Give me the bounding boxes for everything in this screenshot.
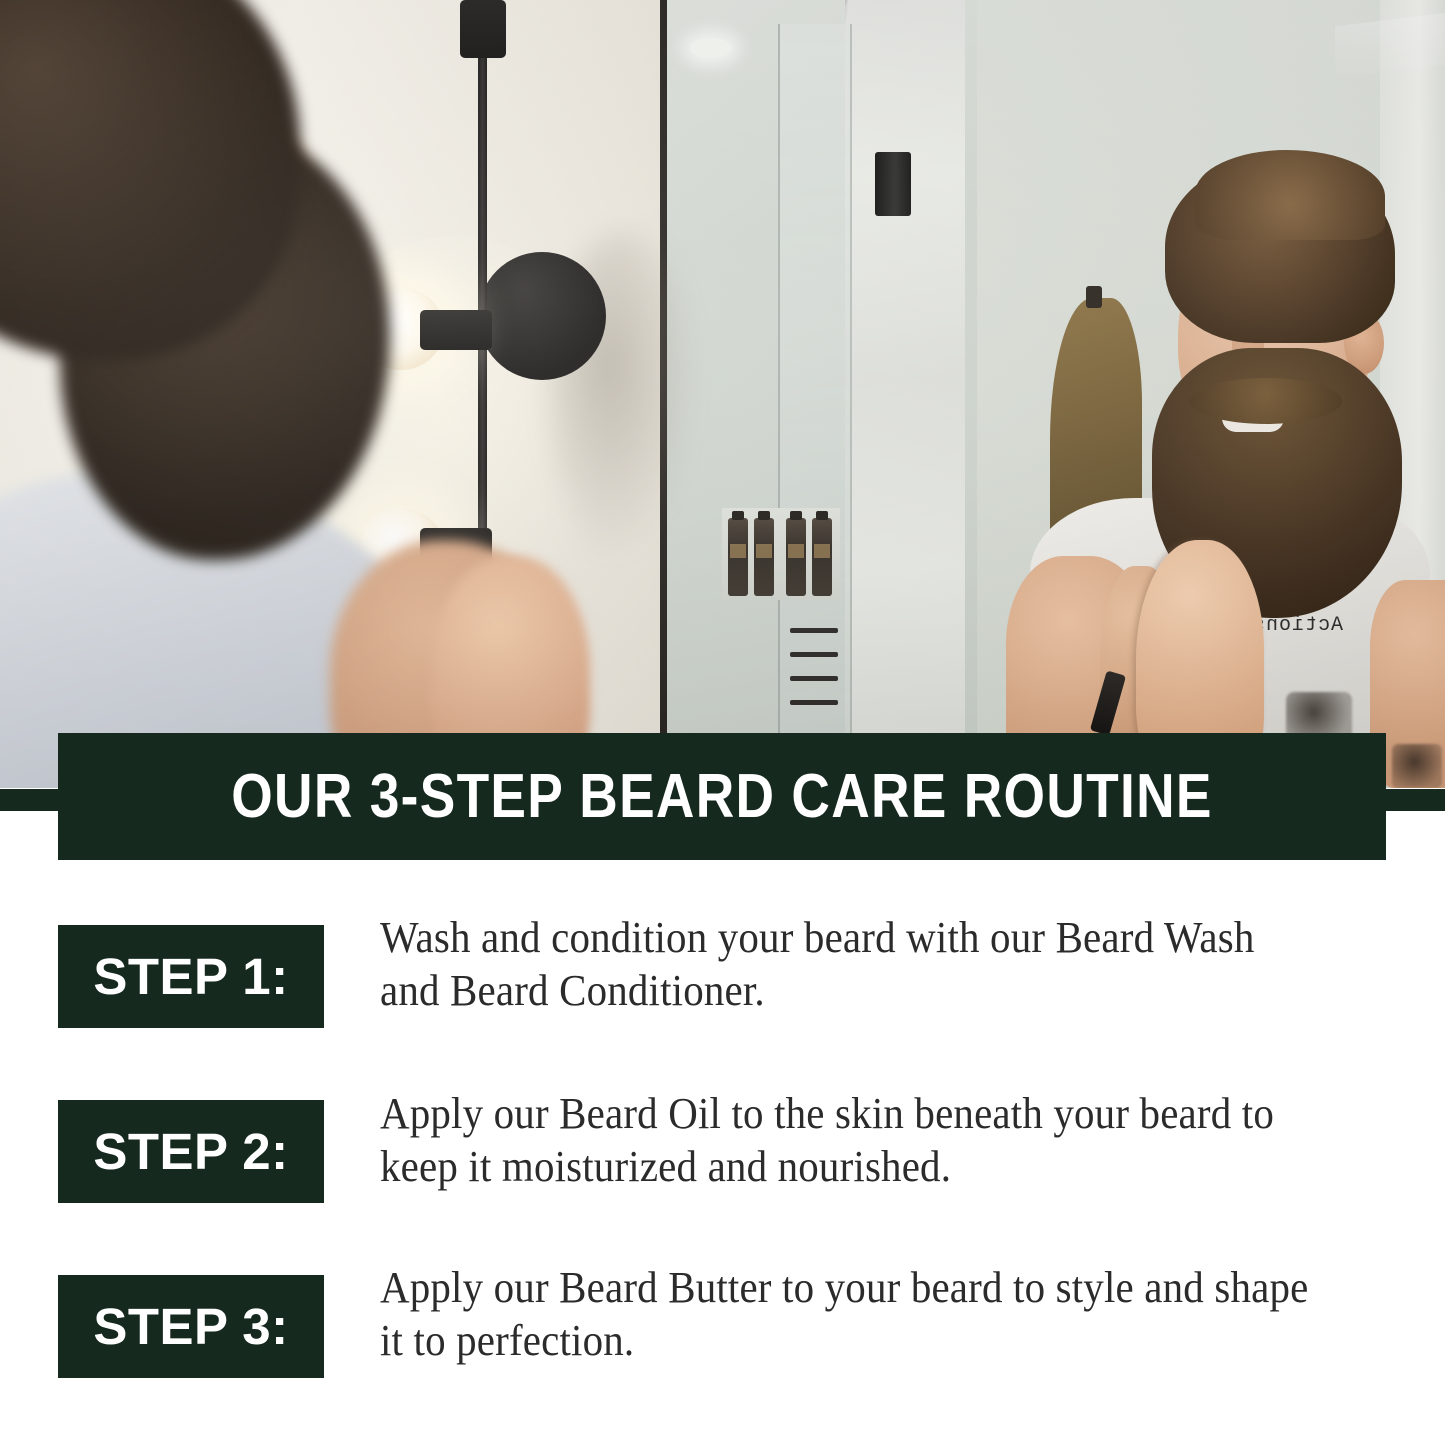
shower-niche <box>722 508 840 600</box>
list-item: STEP 1: Wash and condition your beard wi… <box>0 900 1445 1076</box>
bulb-socket-icon <box>420 310 492 350</box>
product-bottle <box>786 518 806 596</box>
reflected-man-moustache <box>1190 378 1342 424</box>
shower-door-hinge-icon <box>875 152 911 216</box>
step-3-text: Apply our Beard Butter to your beard to … <box>380 1262 1319 1368</box>
product-bottle <box>728 518 748 596</box>
page-title: OUR 3-STEP BEARD CARE ROUTINE <box>151 733 1293 860</box>
step-3-badge: STEP 3: <box>58 1275 324 1378</box>
step-1-badge: STEP 1: <box>58 925 324 1028</box>
sconce-backplate <box>478 252 606 380</box>
reflected-man-hair-top <box>1195 150 1385 240</box>
list-item: STEP 3: Apply our Beard Butter to your b… <box>0 1254 1445 1430</box>
infographic-canvas: Actions OUR 3-STEP BEARD CARE ROUTINE ST… <box>0 0 1445 1445</box>
shower-shelf-bracket <box>790 628 838 706</box>
step-2-text: Apply our Beard Oil to the skin beneath … <box>380 1088 1319 1194</box>
hero-photo: Actions <box>0 0 1445 788</box>
product-bottle <box>754 518 774 596</box>
list-item: STEP 2: Apply our Beard Oil to the skin … <box>0 1078 1445 1254</box>
steps-list: STEP 1: Wash and condition your beard wi… <box>0 900 1445 1430</box>
towel-hook-icon <box>1086 286 1102 308</box>
step-1-text: Wash and condition your beard with our B… <box>380 912 1319 1018</box>
forearm-tattoo <box>1392 744 1442 788</box>
product-bottle <box>812 518 832 596</box>
sconce-top-socket-icon <box>460 0 506 58</box>
recessed-ceiling-light-icon <box>690 38 732 58</box>
step-2-badge: STEP 2: <box>58 1100 324 1203</box>
marble-wall-panel <box>845 0 965 788</box>
